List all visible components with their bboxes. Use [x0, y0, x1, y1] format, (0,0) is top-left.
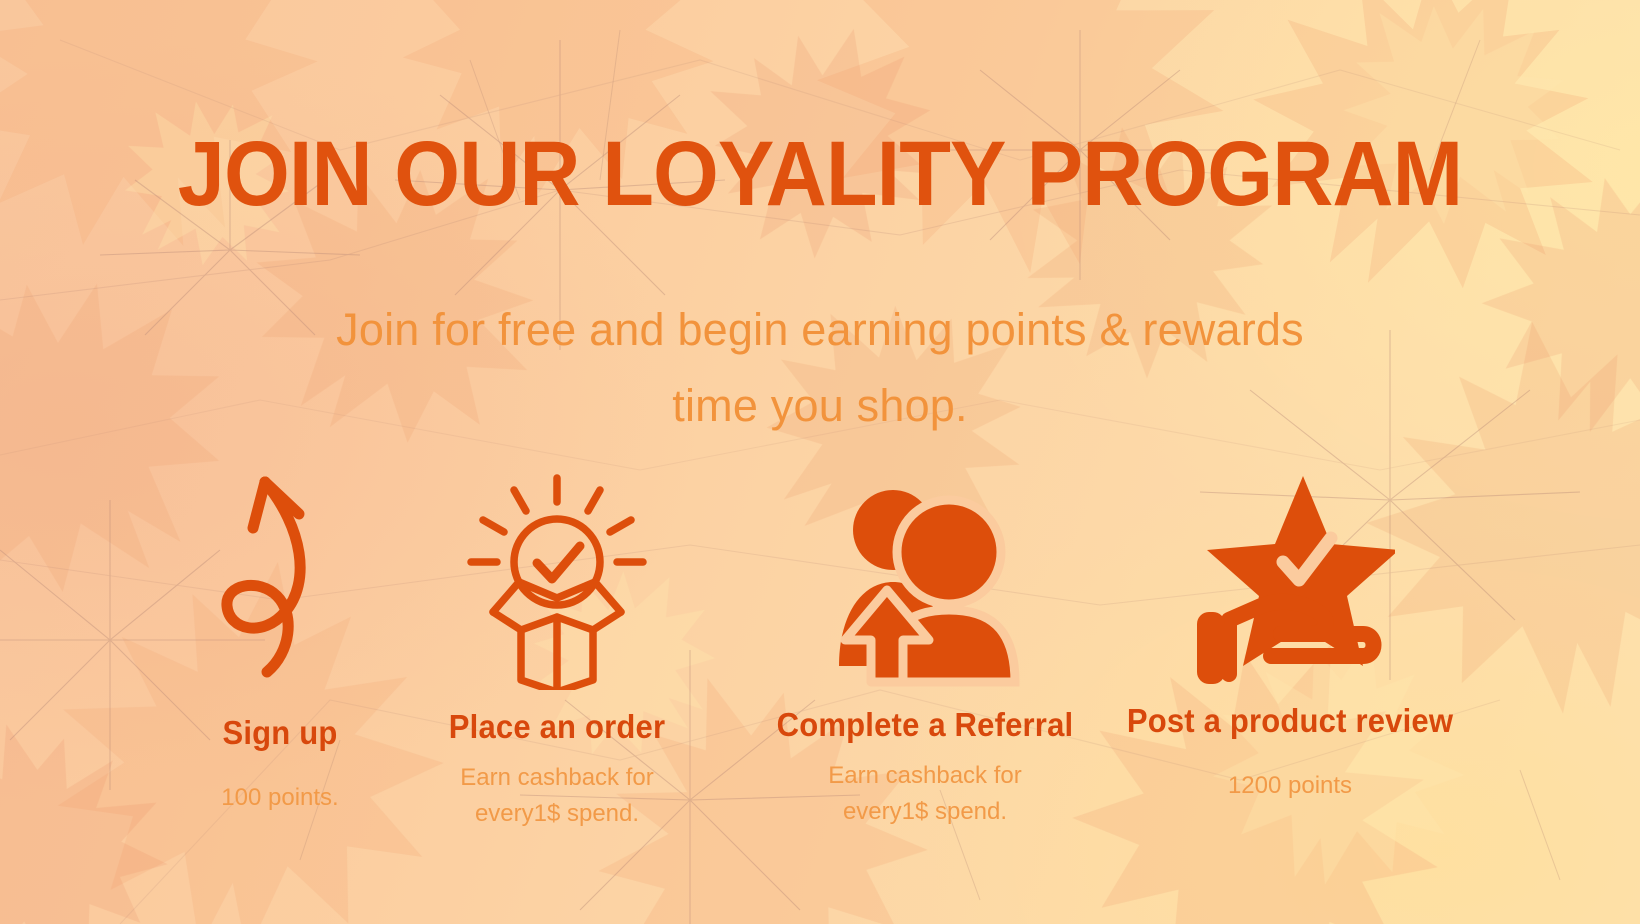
subtitle: Join for free and begin earning points &…	[210, 292, 1430, 444]
subtitle-line-2: time you shop.	[210, 368, 1430, 444]
feature-title: Post a product review	[1121, 702, 1459, 740]
loyalty-program-banner: JOIN OUR LOYALITY PROGRAM Join for free …	[0, 0, 1640, 924]
feature-complete-a-referral[interactable]: Complete a Referral Earn cashback for ev…	[760, 470, 1090, 830]
feature-icon-wrapper	[150, 470, 410, 690]
curly-arrow-icon	[215, 470, 345, 690]
feature-list: Sign up 100 points.	[150, 470, 1530, 850]
feature-caption: 1200 points	[1110, 768, 1470, 804]
feature-icon-wrapper	[422, 470, 692, 690]
feature-caption: Earn cashback for every1$ spend.	[760, 758, 1090, 830]
feature-caption: 100 points.	[150, 780, 410, 816]
feature-place-an-order[interactable]: Place an order Earn cashback for every1$…	[422, 470, 692, 832]
hand-star-check-icon	[1185, 470, 1395, 690]
feature-title: Complete a Referral	[770, 706, 1080, 744]
feature-post-a-product-review[interactable]: Post a product review 1200 points	[1110, 470, 1470, 804]
feature-caption: Earn cashback for every1$ spend.	[422, 760, 692, 832]
subtitle-line-1: Join for free and begin earning points &…	[210, 292, 1430, 368]
feature-sign-up[interactable]: Sign up 100 points.	[150, 470, 410, 816]
feature-title: Place an order	[430, 708, 684, 746]
open-box-check-icon	[457, 470, 657, 690]
feature-title: Sign up	[158, 714, 402, 752]
page-title: JOIN OUR LOYALITY PROGRAM	[66, 128, 1575, 220]
two-people-arrow-icon	[825, 470, 1025, 690]
feature-icon-wrapper	[1110, 470, 1470, 690]
feature-icon-wrapper	[760, 470, 1090, 690]
